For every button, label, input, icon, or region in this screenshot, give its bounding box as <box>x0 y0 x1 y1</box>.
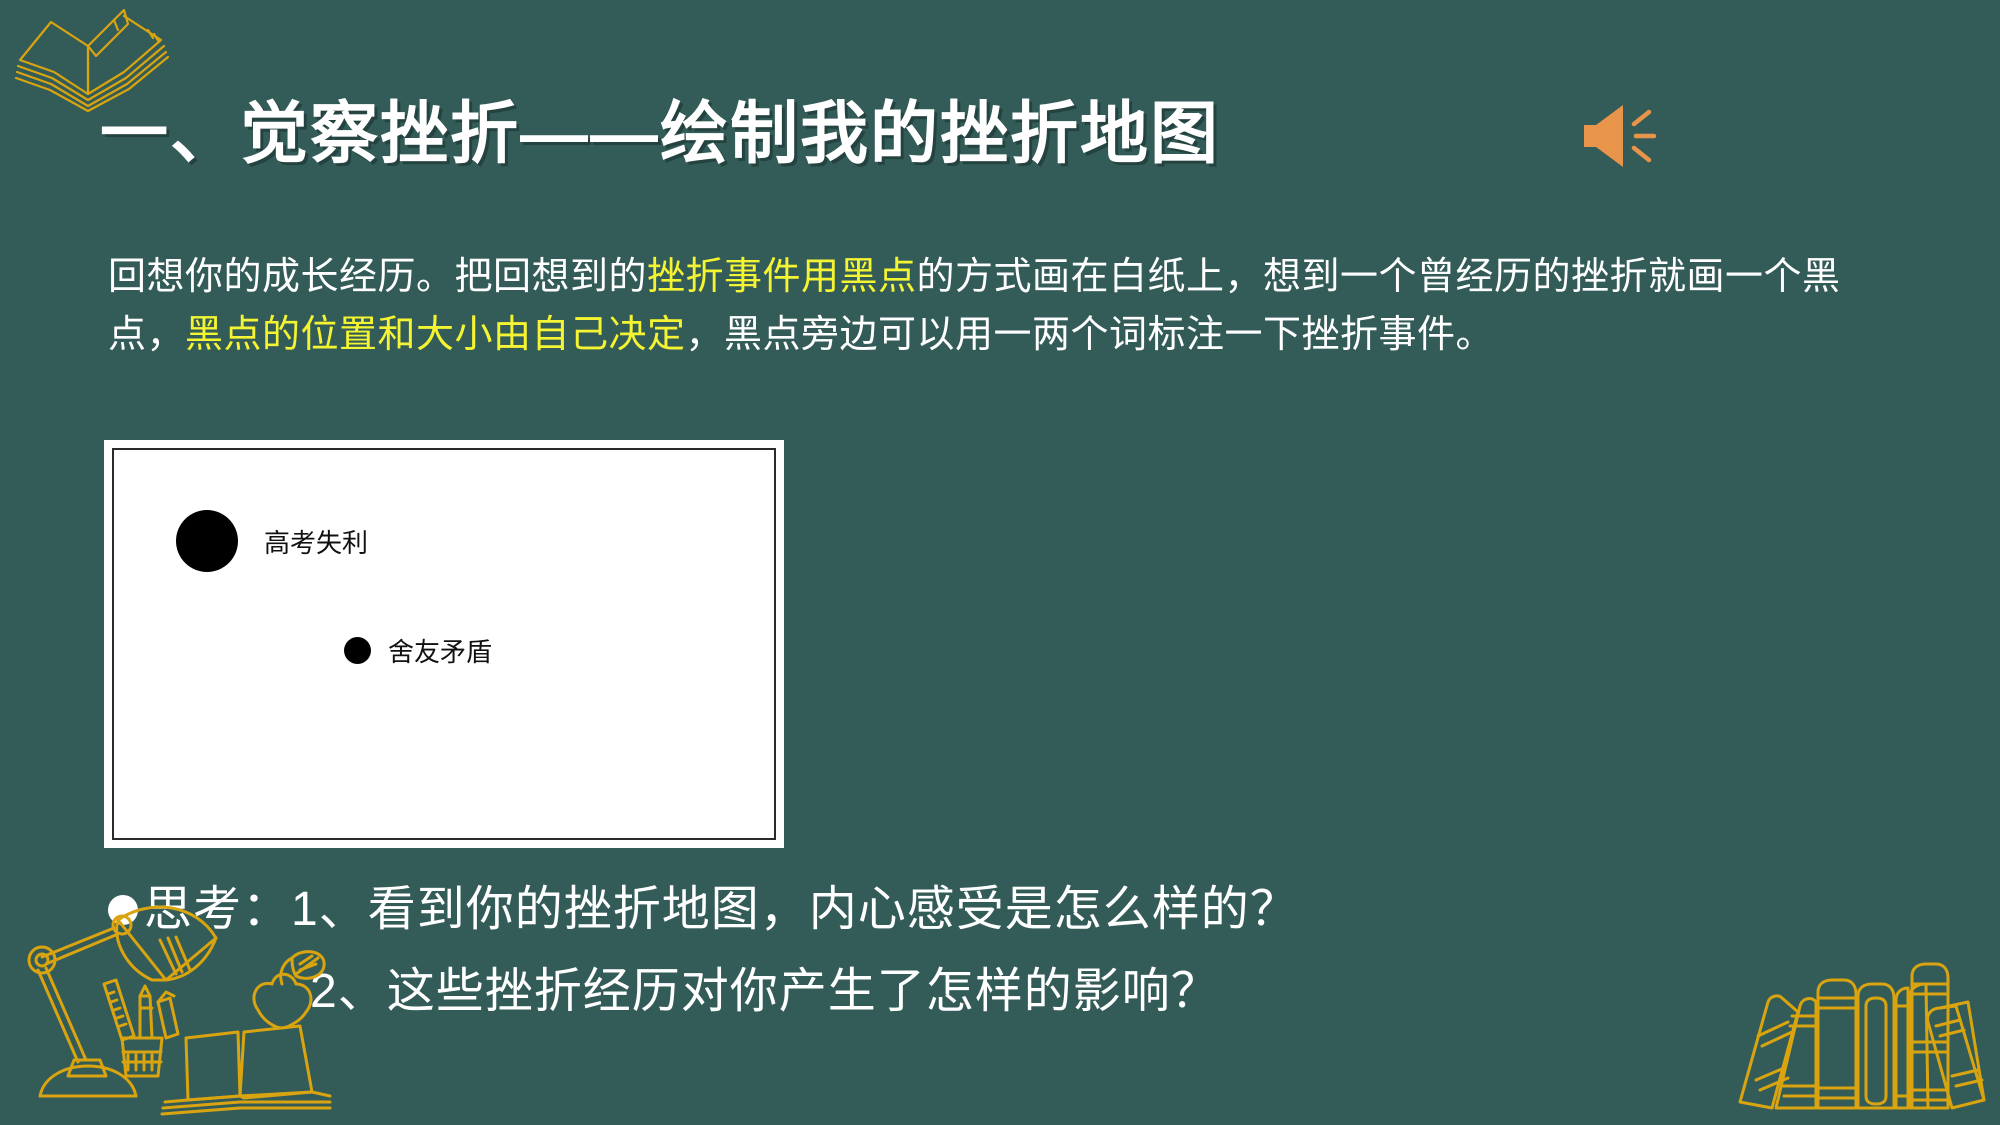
question-line-1: 思考：1、看到你的挫折地图，内心感受是怎么样的？ <box>108 872 1608 948</box>
instruction-seg-1-highlight: 挫折事件用黑点 <box>647 256 917 298</box>
page-title: 一、觉察挫折——绘制我的挫折地图 <box>100 78 1220 177</box>
instruction-paragraph: 回想你的成长经历。把回想到的挫折事件用黑点的方式画在白纸上，想到一个曾经历的挫折… <box>108 248 1898 364</box>
instruction-seg-3-highlight: 黑点的位置和大小由自己决定 <box>185 314 686 356</box>
question-line-1-text: 思考：1、看到你的挫折地图，内心感受是怎么样的？ <box>144 872 1299 948</box>
question-line-2: 2、这些挫折经历对你产生了怎样的影响？ <box>108 954 1608 1030</box>
setback-label: 高考失利 <box>264 523 368 560</box>
questions-block: 思考：1、看到你的挫折地图，内心感受是怎么样的？ 2、这些挫折经历对你产生了怎样… <box>108 872 1608 1030</box>
board-item: 高考失利 <box>176 510 368 572</box>
setback-dot-large <box>176 510 238 572</box>
setback-label: 舍友矛盾 <box>388 632 492 669</box>
drawing-board[interactable]: 高考失利 舍友矛盾 <box>104 440 784 848</box>
bullet-icon <box>108 895 138 925</box>
instruction-seg-4: ，黑点旁边可以用一两个词标注一下挫折事件。 <box>686 314 1495 356</box>
setback-dot-small <box>344 637 371 664</box>
book-row-icon <box>1700 930 2000 1125</box>
instruction-seg-0: 回想你的成长经历。把回想到的 <box>108 256 647 298</box>
slide-canvas: 一、觉察挫折——绘制我的挫折地图 回想你的成长经历。把回想到的挫折事件用黑点的方… <box>0 0 2000 1125</box>
board-item: 舍友矛盾 <box>344 632 492 669</box>
speaker-icon[interactable] <box>1576 96 1666 176</box>
drawing-board-inner: 高考失利 舍友矛盾 <box>112 448 776 840</box>
question-line-2-text: 2、这些挫折经历对你产生了怎样的影响？ <box>310 954 1220 1030</box>
